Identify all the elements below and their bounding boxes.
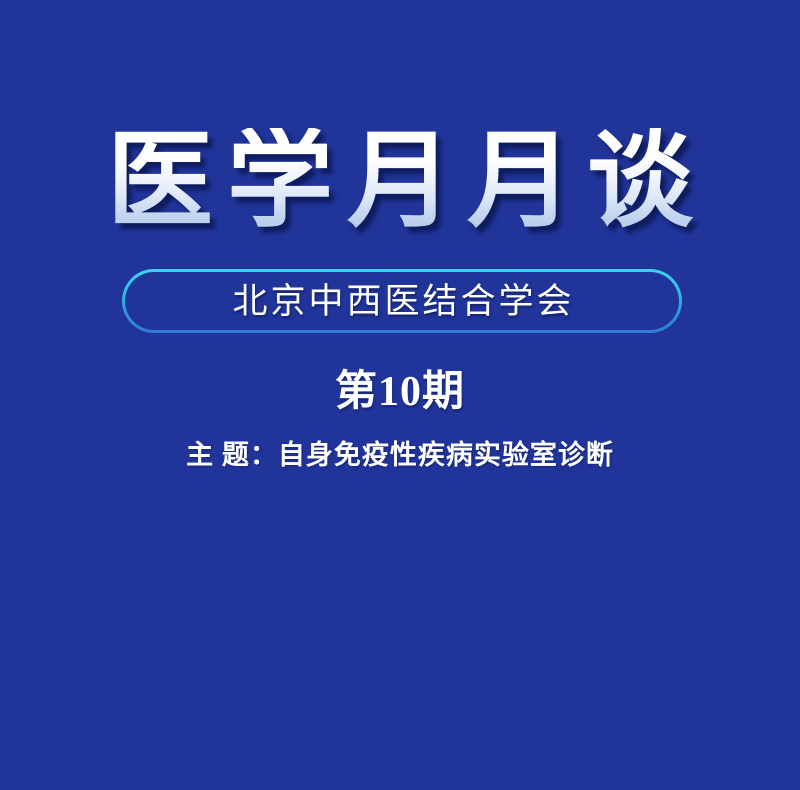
topic-line: 主 题：自身免疫性疾病实验室诊断 bbox=[0, 440, 800, 471]
poster-canvas: 医学月月谈 北京中西医结合学会 第10期 主 题：自身免疫性疾病实验室诊断 bbox=[0, 0, 800, 790]
page-title: 医学月月谈 bbox=[93, 128, 707, 236]
lower-background-area bbox=[0, 500, 800, 790]
organization-name: 北京中西医结合学会 bbox=[229, 284, 574, 319]
title-block: 医学月月谈 bbox=[0, 128, 800, 236]
organization-badge: 北京中西医结合学会 bbox=[122, 269, 682, 333]
issue-number: 第10期 bbox=[0, 370, 800, 414]
